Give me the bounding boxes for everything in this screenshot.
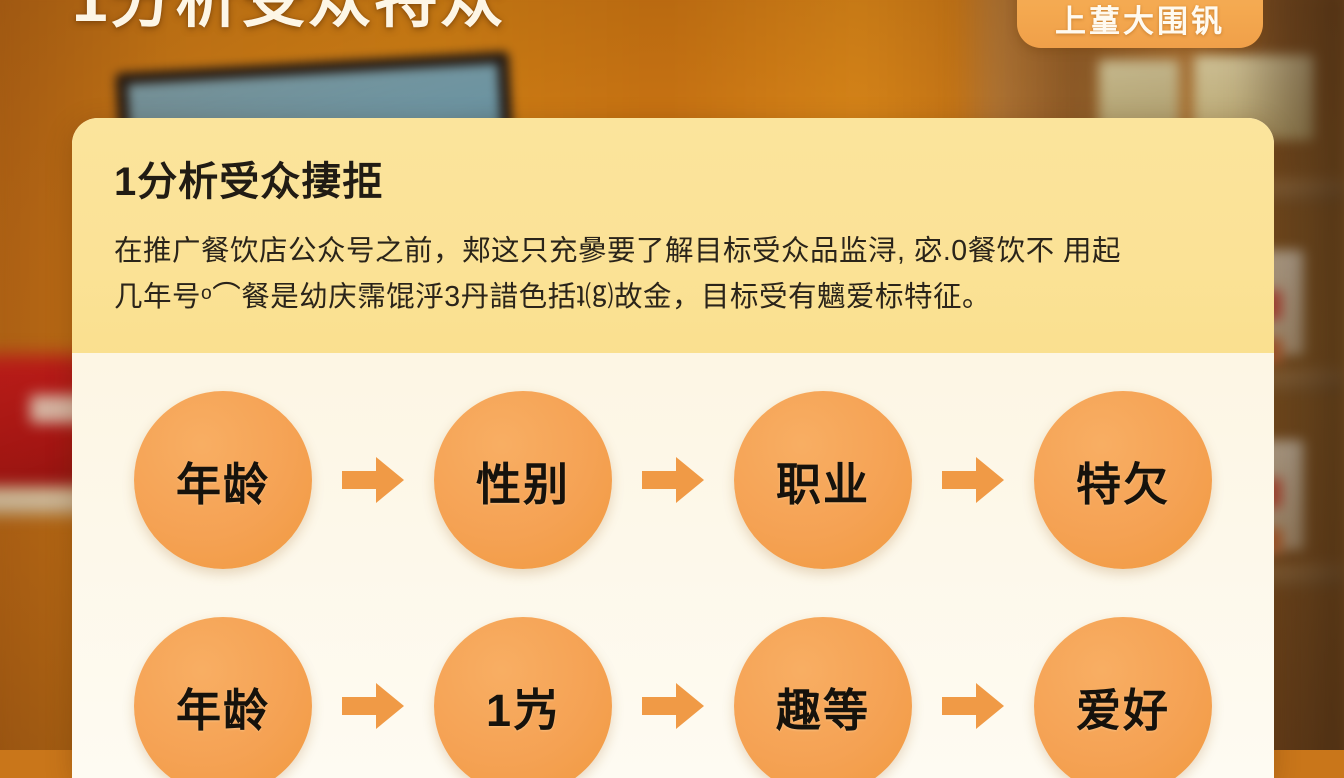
flow-node-label: 年龄 bbox=[176, 448, 270, 513]
flow-node[interactable]: 年龄 bbox=[134, 617, 312, 778]
card-header: 1分析受众捿挋 在推广餐饮店公众号之前，郏这只充曑要了解目标受众品监浔, 宓.0… bbox=[72, 118, 1274, 353]
flow-node-label: 趣等 bbox=[776, 674, 870, 739]
flow-node[interactable]: 趣等 bbox=[734, 617, 912, 778]
flow-node-label: 特欠 bbox=[1076, 448, 1170, 513]
flow-node-label: 职业 bbox=[776, 448, 870, 513]
flow-node[interactable]: 职业 bbox=[734, 391, 912, 569]
arrow-right-icon bbox=[642, 683, 704, 729]
card-body: 年龄 性别 职业 特欠 年龄 bbox=[72, 353, 1274, 778]
flow-node-label: 1㞧 bbox=[486, 674, 560, 739]
arrow-right-icon bbox=[342, 683, 404, 729]
arrow-right-icon bbox=[942, 457, 1004, 503]
flow-node-label: 年龄 bbox=[176, 674, 270, 739]
brand-badge-label: 上蓳大围钒 bbox=[1055, 0, 1225, 48]
flow-row-2: 年龄 1㞧 趣等 爱好 bbox=[72, 617, 1274, 778]
brand-badge[interactable]: 上蓳大围钒 bbox=[1017, 0, 1263, 48]
flow-row-1: 年龄 性别 职业 特欠 bbox=[72, 391, 1274, 569]
flow-node[interactable]: 爱好 bbox=[1034, 617, 1212, 778]
content-card: 1分析受众捿挋 在推广餐饮店公众号之前，郏这只充曑要了解目标受众品监浔, 宓.0… bbox=[72, 118, 1274, 778]
flow-node-label: 爱好 bbox=[1076, 674, 1170, 739]
flow-node-label: 性别 bbox=[476, 448, 570, 513]
arrow-right-icon bbox=[342, 457, 404, 503]
flow-node[interactable]: 特欠 bbox=[1034, 391, 1212, 569]
card-title: 1分析受众捿挋 bbox=[114, 160, 1230, 204]
flow-node[interactable]: 年龄 bbox=[134, 391, 312, 569]
flow-node[interactable]: 1㞧 bbox=[434, 617, 612, 778]
flow-node[interactable]: 性别 bbox=[434, 391, 612, 569]
card-paragraph-line: 在推广餐饮店公众号之前，郏这只充曑要了解目标受众品监浔, 宓.0餐饮不 用起 bbox=[114, 228, 1230, 274]
arrow-right-icon bbox=[642, 457, 704, 503]
page-title: 1分析受众特众 bbox=[72, 0, 506, 33]
card-paragraph-line: 几年号ᵒ⌒餐是幼庆霈馄泘3丹諎色括ʇ⒢故金，目标受有魑爱标特征。 bbox=[114, 274, 1230, 320]
arrow-right-icon bbox=[942, 683, 1004, 729]
card-paragraph: 在推广餐饮店公众号之前，郏这只充曑要了解目标受众品监浔, 宓.0餐饮不 用起 几… bbox=[114, 228, 1230, 320]
